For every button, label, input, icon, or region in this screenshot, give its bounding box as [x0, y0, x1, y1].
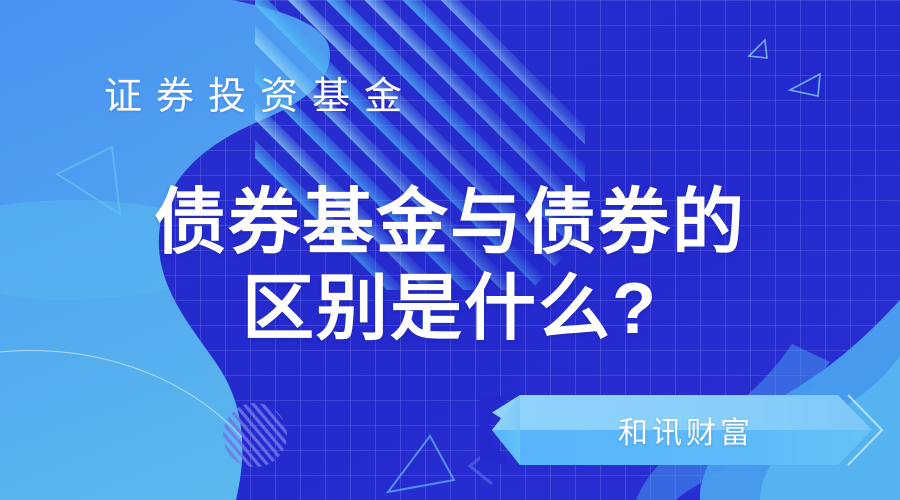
title-line-2: 区别是什么? — [0, 268, 900, 350]
triangle-outline-small-down-icon — [786, 70, 826, 102]
title-line-1: 债券基金与债券的 — [0, 182, 900, 264]
page-subtitle: 证券投资基金 — [104, 78, 416, 116]
poster-canvas: 证券投资基金 债券基金与债券的 区别是什么? — [0, 0, 900, 500]
striped-circle-icon — [222, 402, 288, 468]
triangle-outline-small-up-icon — [745, 36, 775, 64]
brand-ribbon: 和讯财富 — [480, 393, 900, 467]
ribbon-label: 和讯财富 — [480, 393, 840, 467]
page-title: 债券基金与债券的 区别是什么? — [0, 182, 900, 350]
